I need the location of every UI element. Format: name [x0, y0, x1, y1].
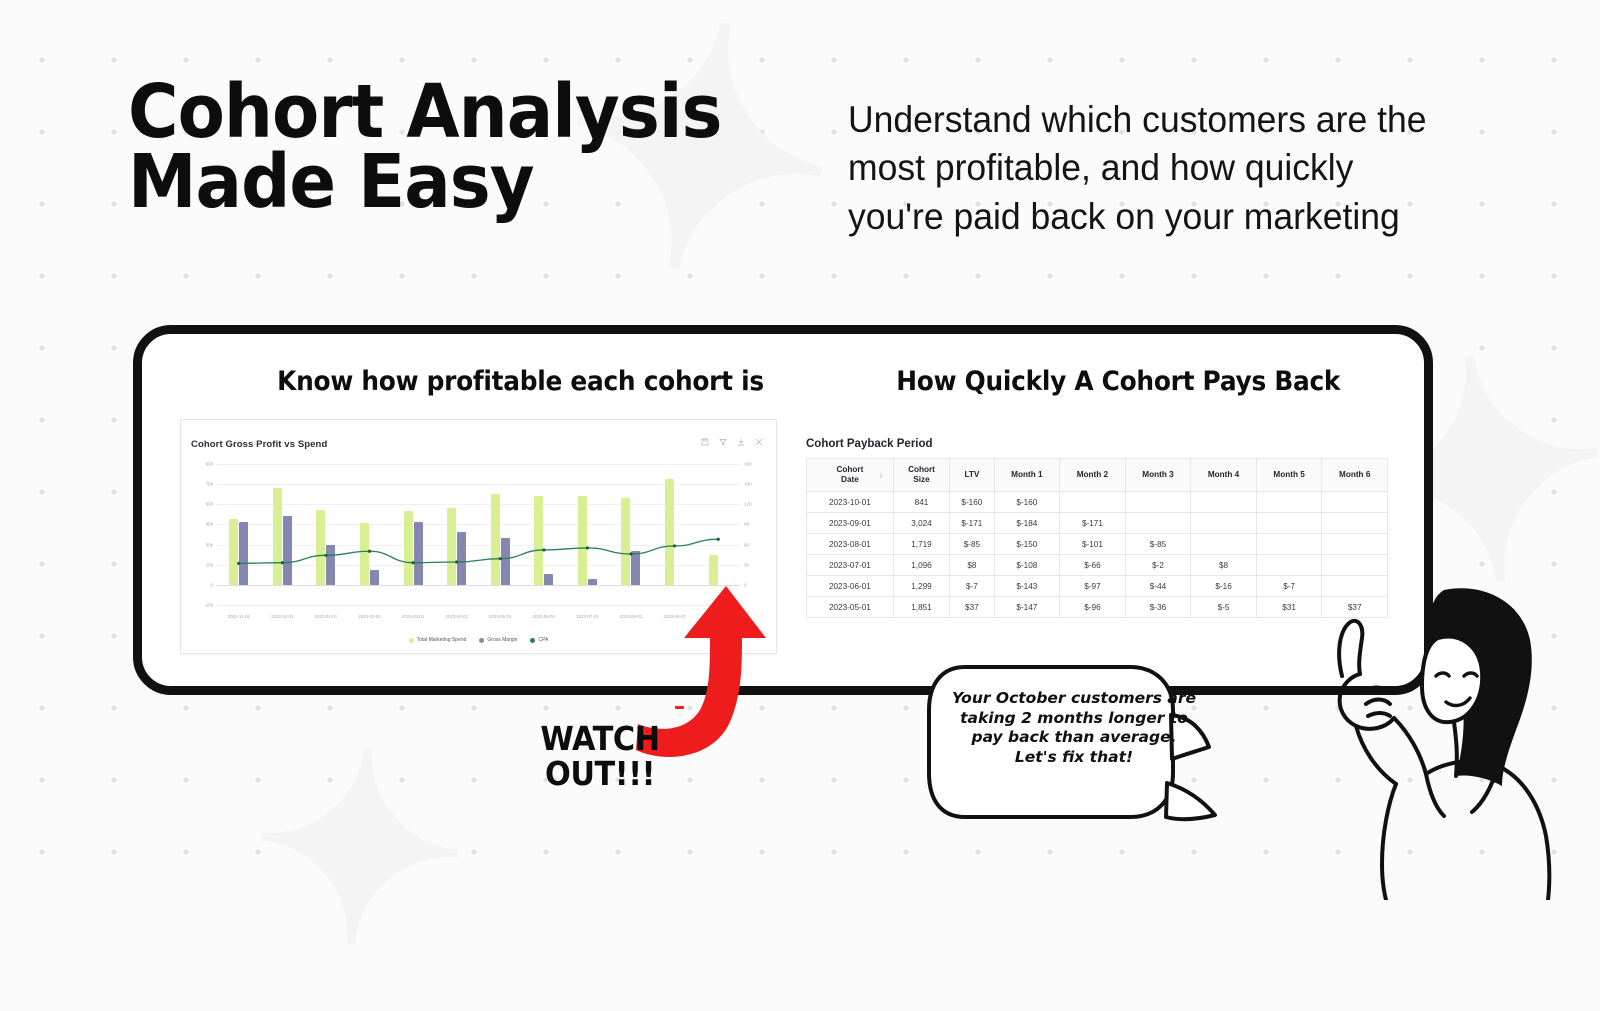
- chart-toolbar[interactable]: [701, 438, 763, 446]
- table-cell: 2023-09-01: [807, 513, 894, 534]
- table-cell: 1,719: [893, 534, 949, 555]
- y2-tick-label: 120: [744, 502, 752, 507]
- table-cell: [1125, 492, 1191, 513]
- x-tick-label: 2023-02-01: [358, 614, 380, 619]
- speech-bubble: Your October customers are taking 2 mont…: [925, 655, 1225, 830]
- y-tick-label: 60k: [206, 502, 213, 507]
- legend-swatch: [409, 638, 414, 643]
- chart-title: Cohort Gross Profit vs Spend: [191, 439, 768, 450]
- table-cell: 2023-06-01: [807, 576, 894, 597]
- y-tick-label: 75k: [206, 482, 213, 487]
- table-title: Cohort Payback Period: [806, 438, 933, 450]
- page-title: Cohort Analysis Made Easy: [128, 78, 723, 217]
- y-tick-label: 30k: [206, 542, 213, 547]
- table-cell: [1060, 492, 1126, 513]
- table-cell: $-36: [1125, 597, 1191, 618]
- legend-label: Total Marketing Spend: [417, 637, 467, 643]
- table-row[interactable]: 2023-09-013,024$-171$-184$-171: [807, 513, 1388, 534]
- speech-bubble-text: Your October customers are taking 2 mont…: [943, 689, 1205, 767]
- left-panel-title: Know how profitable each cohort is: [277, 366, 764, 397]
- legend-swatch: [479, 638, 484, 643]
- table-header-cell[interactable]: LTV: [950, 459, 994, 492]
- y-tick-label: 90k: [206, 462, 213, 467]
- download-icon[interactable]: [737, 438, 745, 446]
- table-cell: 841: [893, 492, 949, 513]
- table-header-cell[interactable]: Month 5: [1256, 459, 1322, 492]
- watch-out-label: WATCH OUT!!!: [508, 722, 692, 792]
- table-header-label: Month 4: [1208, 470, 1239, 479]
- save-icon[interactable]: [701, 438, 709, 446]
- table-cell: $-147: [994, 597, 1060, 618]
- table-cell: [1256, 534, 1322, 555]
- table-cell: $-184: [994, 513, 1060, 534]
- legend-label: CPA: [538, 637, 548, 643]
- table-cell: $-2: [1125, 555, 1191, 576]
- table-cell: [1191, 492, 1257, 513]
- table-cell: $-44: [1125, 576, 1191, 597]
- table-header-label: Month 6: [1339, 470, 1370, 479]
- table-header-label: LTV: [964, 470, 979, 479]
- close-icon[interactable]: [755, 438, 763, 446]
- page-subtitle: Understand which customers are the most …: [848, 96, 1434, 241]
- table-cell: [1125, 513, 1191, 534]
- table-header-label: Month 5: [1273, 470, 1304, 479]
- table-cell: $-171: [1060, 513, 1126, 534]
- table-cell: $-85: [1125, 534, 1191, 555]
- table-cell: [1322, 534, 1388, 555]
- legend-item[interactable]: Total Marketing Spend: [409, 637, 467, 643]
- y-tick-label: 0: [210, 582, 213, 587]
- legend-item[interactable]: Gross Margin: [479, 637, 517, 643]
- table-cell: 2023-07-01: [807, 555, 894, 576]
- y-tick-label: 45k: [206, 522, 213, 527]
- legend-swatch: [530, 638, 535, 643]
- table-header-cell[interactable]: Month 4: [1191, 459, 1257, 492]
- table-cell: $37: [950, 597, 994, 618]
- x-tick-label: 2023-03-01: [402, 614, 424, 619]
- table-cell: $-108: [994, 555, 1060, 576]
- table-cell: $-7: [950, 576, 994, 597]
- table-cell: 1,299: [893, 576, 949, 597]
- table-cell: 1,096: [893, 555, 949, 576]
- table-header-label: Month 2: [1077, 470, 1108, 479]
- legend-label: Gross Margin: [487, 637, 517, 643]
- table-header-cell[interactable]: Month 2: [1060, 459, 1126, 492]
- table-header-row: Cohort Date↓Cohort SizeLTVMonth 1Month 2…: [807, 459, 1388, 492]
- table-cell: $8: [950, 555, 994, 576]
- table-row[interactable]: 2023-10-01841$-160$-160: [807, 492, 1388, 513]
- table-cell: $8: [1191, 555, 1257, 576]
- table-cell: $-160: [994, 492, 1060, 513]
- x-tick-label: 2022-12-01: [271, 614, 293, 619]
- y-tick-label: -15k: [204, 603, 213, 608]
- x-tick-label: 2022-11-01: [228, 614, 250, 619]
- table-cell: [1256, 513, 1322, 534]
- x-tick-label: 2023-01-01: [315, 614, 337, 619]
- x-tick-label: 2023-05-01: [489, 614, 511, 619]
- x-tick-label: 2023-07-01: [576, 614, 598, 619]
- table-cell: [1256, 555, 1322, 576]
- y2-tick-label: 180: [744, 462, 752, 467]
- y2-tick-label: 150: [744, 482, 752, 487]
- table-cell: [1191, 534, 1257, 555]
- table-cell: $-143: [994, 576, 1060, 597]
- table-cell: [1256, 492, 1322, 513]
- table-header-cell[interactable]: Month 6: [1322, 459, 1388, 492]
- table-cell: $-96: [1060, 597, 1126, 618]
- table-cell: 3,024: [893, 513, 949, 534]
- table-cell: $-101: [1060, 534, 1126, 555]
- table-cell: 2023-05-01: [807, 597, 894, 618]
- y-tick-label: 15k: [206, 562, 213, 567]
- table-row[interactable]: 2023-07-011,096$8$-108$-66$-2$8: [807, 555, 1388, 576]
- table-header-cell[interactable]: Cohort Date↓: [807, 459, 894, 492]
- watermark-decoration: ✦: [237, 691, 480, 1011]
- table-cell: [1322, 513, 1388, 534]
- table-header-label: Month 1: [1011, 470, 1042, 479]
- table-cell: 2023-10-01: [807, 492, 894, 513]
- sort-arrow-icon[interactable]: ↓: [879, 470, 883, 480]
- table-cell: 1,851: [893, 597, 949, 618]
- table-cell: $-171: [950, 513, 994, 534]
- table-header-cell[interactable]: Cohort Size: [893, 459, 949, 492]
- table-cell: [1322, 555, 1388, 576]
- chart-header: Cohort Gross Profit vs Spend: [191, 439, 768, 455]
- y2-tick-label: 60: [744, 542, 749, 547]
- table-cell: $-97: [1060, 576, 1126, 597]
- table-cell: $-66: [1060, 555, 1126, 576]
- table-cell: 2023-08-01: [807, 534, 894, 555]
- right-panel-title: How Quickly A Cohort Pays Back: [896, 366, 1340, 397]
- table-cell: $-85: [950, 534, 994, 555]
- y2-tick-label: 90: [744, 522, 749, 527]
- x-tick-label: 2023-06-01: [533, 614, 555, 619]
- table-header-cell[interactable]: Month 1: [994, 459, 1060, 492]
- x-tick-label: 2023-04-01: [445, 614, 467, 619]
- table-cell: $-150: [994, 534, 1060, 555]
- legend-item[interactable]: CPA: [530, 637, 548, 643]
- table-header-label: Cohort Date: [836, 465, 863, 484]
- table-cell: $-160: [950, 492, 994, 513]
- table-header-label: Month 3: [1142, 470, 1173, 479]
- table-cell: [1191, 513, 1257, 534]
- person-illustration: [1230, 580, 1590, 900]
- filter-icon[interactable]: [719, 438, 727, 446]
- table-header-label: Cohort Size: [908, 465, 935, 484]
- y2-tick-label: 30: [744, 562, 749, 567]
- table-header-cell[interactable]: Month 3: [1125, 459, 1191, 492]
- table-row[interactable]: 2023-08-011,719$-85$-150$-101$-85: [807, 534, 1388, 555]
- table-cell: [1322, 492, 1388, 513]
